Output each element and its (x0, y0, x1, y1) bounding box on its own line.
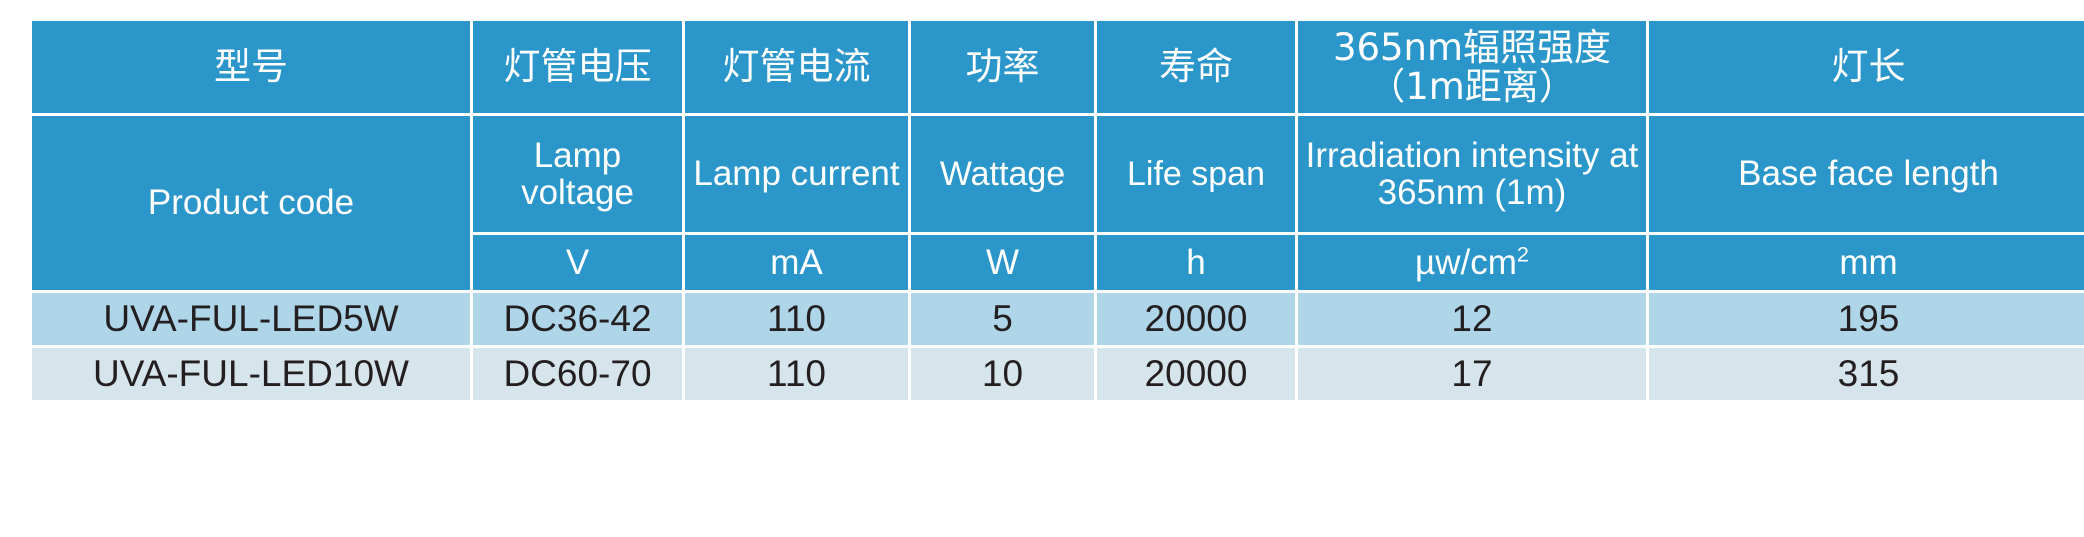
header-en-irradiation: Irradiation intensity at 365nm (1m) (1298, 116, 1646, 232)
header-unit-lamp-voltage: V (473, 235, 682, 290)
table-row: UVA-FUL-LED10W DC60-70 110 10 20000 17 3… (32, 348, 2084, 400)
cell-base-face-length: 315 (1649, 348, 2084, 400)
header-row-chinese: 型号 灯管电压 灯管电流 功率 寿命 365nm辐照强度 （1m距离） 灯长 (32, 21, 2084, 113)
cell-irradiation: 17 (1298, 348, 1646, 400)
cell-product-code: UVA-FUL-LED5W (32, 293, 470, 345)
header-unit-life-span: h (1097, 235, 1295, 290)
cell-lamp-voltage: DC60-70 (473, 348, 682, 400)
cell-lamp-current: 110 (685, 293, 908, 345)
header-en-product-code: Product code (32, 116, 470, 290)
header-cn-life-span: 寿命 (1097, 21, 1295, 113)
header-cn-wattage: 功率 (911, 21, 1094, 113)
header-unit-lamp-current: mA (685, 235, 908, 290)
spec-table-container: 型号 灯管电压 灯管电流 功率 寿命 365nm辐照强度 （1m距离） 灯长 P… (29, 18, 2067, 403)
header-cn-lamp-voltage: 灯管电压 (473, 21, 682, 113)
header-en-lamp-voltage-line1: Lamp (534, 136, 622, 175)
cell-irradiation: 12 (1298, 293, 1646, 345)
header-en-lamp-current: Lamp current (685, 116, 908, 232)
header-unit-wattage: W (911, 235, 1094, 290)
cell-wattage: 10 (911, 348, 1094, 400)
header-en-lamp-voltage-line2: voltage (521, 173, 634, 212)
header-en-lamp-current-line2: current (791, 154, 900, 193)
header-cn-product-code: 型号 (32, 21, 470, 113)
header-en-irradiation-line1: Irradiation intensity (1306, 136, 1600, 175)
cell-wattage: 5 (911, 293, 1094, 345)
header-cn-irradiation-line1: 365nm辐照强度 (1302, 28, 1642, 67)
header-unit-irradiation: µw/cm2 (1298, 235, 1646, 290)
header-en-lamp-current-line1: Lamp (693, 154, 781, 193)
cell-life-span: 20000 (1097, 348, 1295, 400)
cell-lamp-voltage: DC36-42 (473, 293, 682, 345)
header-cn-lamp-current: 灯管电流 (685, 21, 908, 113)
table-row: UVA-FUL-LED5W DC36-42 110 5 20000 12 195 (32, 293, 2084, 345)
header-unit-base-face-length: mm (1649, 235, 2084, 290)
product-specification-table: 型号 灯管电压 灯管电流 功率 寿命 365nm辐照强度 （1m距离） 灯长 P… (29, 18, 2084, 403)
header-en-life-span: Life span (1097, 116, 1295, 232)
header-cn-irradiation: 365nm辐照强度 （1m距离） (1298, 21, 1646, 113)
header-en-wattage: Wattage (911, 116, 1094, 232)
header-cn-base-face-length: 灯长 (1649, 21, 2084, 113)
cell-base-face-length: 195 (1649, 293, 2084, 345)
cell-product-code: UVA-FUL-LED10W (32, 348, 470, 400)
header-en-lamp-voltage: Lamp voltage (473, 116, 682, 232)
cell-life-span: 20000 (1097, 293, 1295, 345)
header-unit-irradiation-exponent: 2 (1517, 241, 1529, 266)
header-cn-irradiation-line2: （1m距离） (1302, 67, 1642, 106)
header-en-base-face-length: Base face length (1649, 116, 2084, 232)
cell-lamp-current: 110 (685, 348, 908, 400)
header-row-english: Product code Lamp voltage Lamp current W… (32, 116, 2084, 232)
header-unit-irradiation-base: µw/cm (1415, 243, 1517, 282)
